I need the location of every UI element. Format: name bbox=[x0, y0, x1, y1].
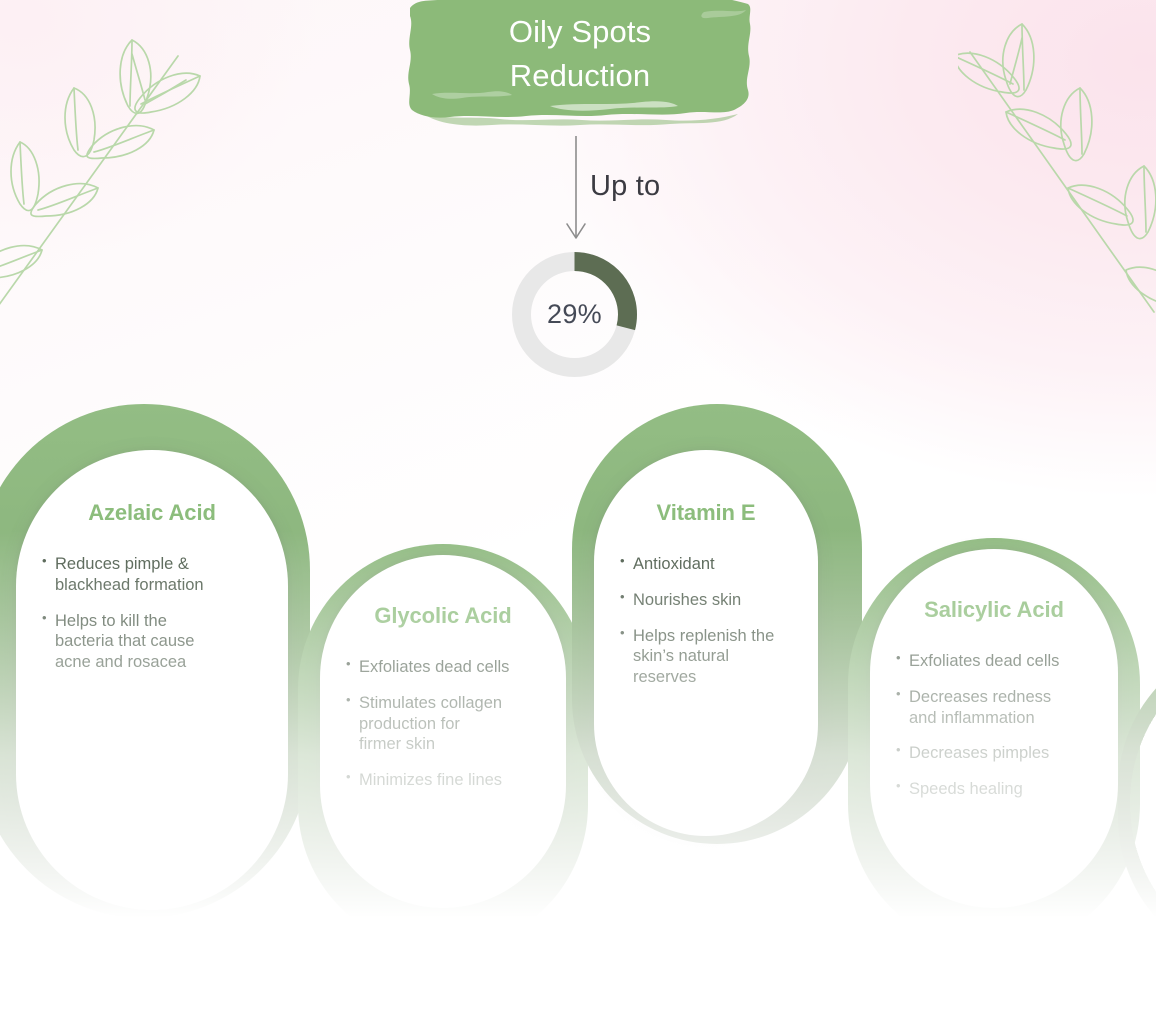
infographic-canvas: Oily Spots Reduction Up to 29% Azelaic A… bbox=[0, 0, 1156, 1020]
card-body: Salicylic Acid Exfoliates dead cells Dec… bbox=[870, 549, 1118, 908]
card-title: Azelaic Acid bbox=[42, 500, 262, 526]
card-bullet-list: Reduces pimple & blackhead formation Hel… bbox=[42, 554, 262, 673]
card-title: Vitamin E bbox=[620, 500, 792, 526]
card-title: Salicylic Acid bbox=[896, 597, 1092, 623]
ingredient-card-glycolic[interactable]: Glycolic Acid Exfoliates dead cells Stim… bbox=[298, 544, 588, 950]
list-item: Nourishes skin bbox=[620, 590, 792, 611]
list-item: Exfoliates dead cells bbox=[346, 657, 540, 678]
donut-value-label: 29% bbox=[508, 248, 641, 381]
botanical-branch-icon-right bbox=[958, 16, 1156, 336]
card-body: Azelaic Acid Reduces pimple & blackhead … bbox=[16, 450, 288, 910]
card-bullet-list: Exfoliates dead cells Stimulates collage… bbox=[346, 657, 540, 791]
donut-chart: 29% bbox=[508, 248, 641, 381]
list-item: Exfoliates dead cells bbox=[896, 651, 1092, 672]
card-title: Glycolic Acid bbox=[346, 603, 540, 629]
list-item: Reduces pimple & blackhead formation bbox=[42, 554, 262, 596]
list-item: Speeds healing bbox=[896, 779, 1092, 800]
ingredient-card-azelaic[interactable]: Azelaic Acid Reduces pimple & blackhead … bbox=[0, 404, 310, 918]
header-banner: Oily Spots Reduction bbox=[404, 0, 756, 136]
list-item: Helps to kill the bacteria that cause ac… bbox=[42, 611, 262, 673]
card-bullet-list: Exfoliates dead cells Decreases redness … bbox=[896, 651, 1092, 800]
card-body: Glycolic Acid Exfoliates dead cells Stim… bbox=[320, 555, 566, 908]
list-item: Helps replenish the skin’s natural reser… bbox=[620, 626, 792, 688]
ingredient-card-salicylic[interactable]: Salicylic Acid Exfoliates dead cells Dec… bbox=[848, 538, 1140, 950]
card-bullet-list: Antioxidant Nourishes skin Helps repleni… bbox=[620, 554, 792, 688]
botanical-branch-icon-left bbox=[0, 34, 202, 374]
list-item: Stimulates collagen production for firme… bbox=[346, 693, 540, 755]
list-item: Decreases pimples bbox=[896, 743, 1092, 764]
list-item: Decreases redness and inflammation bbox=[896, 687, 1092, 729]
up-to-label: Up to bbox=[590, 170, 660, 203]
page-title: Oily Spots Reduction bbox=[404, 10, 756, 98]
list-item: Minimizes fine lines bbox=[346, 770, 540, 791]
ingredient-card-vitamin-e[interactable]: Vitamin E Antioxidant Nourishes skin Hel… bbox=[572, 404, 862, 844]
card-body: Vitamin E Antioxidant Nourishes skin Hel… bbox=[594, 450, 818, 836]
list-item: Antioxidant bbox=[620, 554, 792, 575]
